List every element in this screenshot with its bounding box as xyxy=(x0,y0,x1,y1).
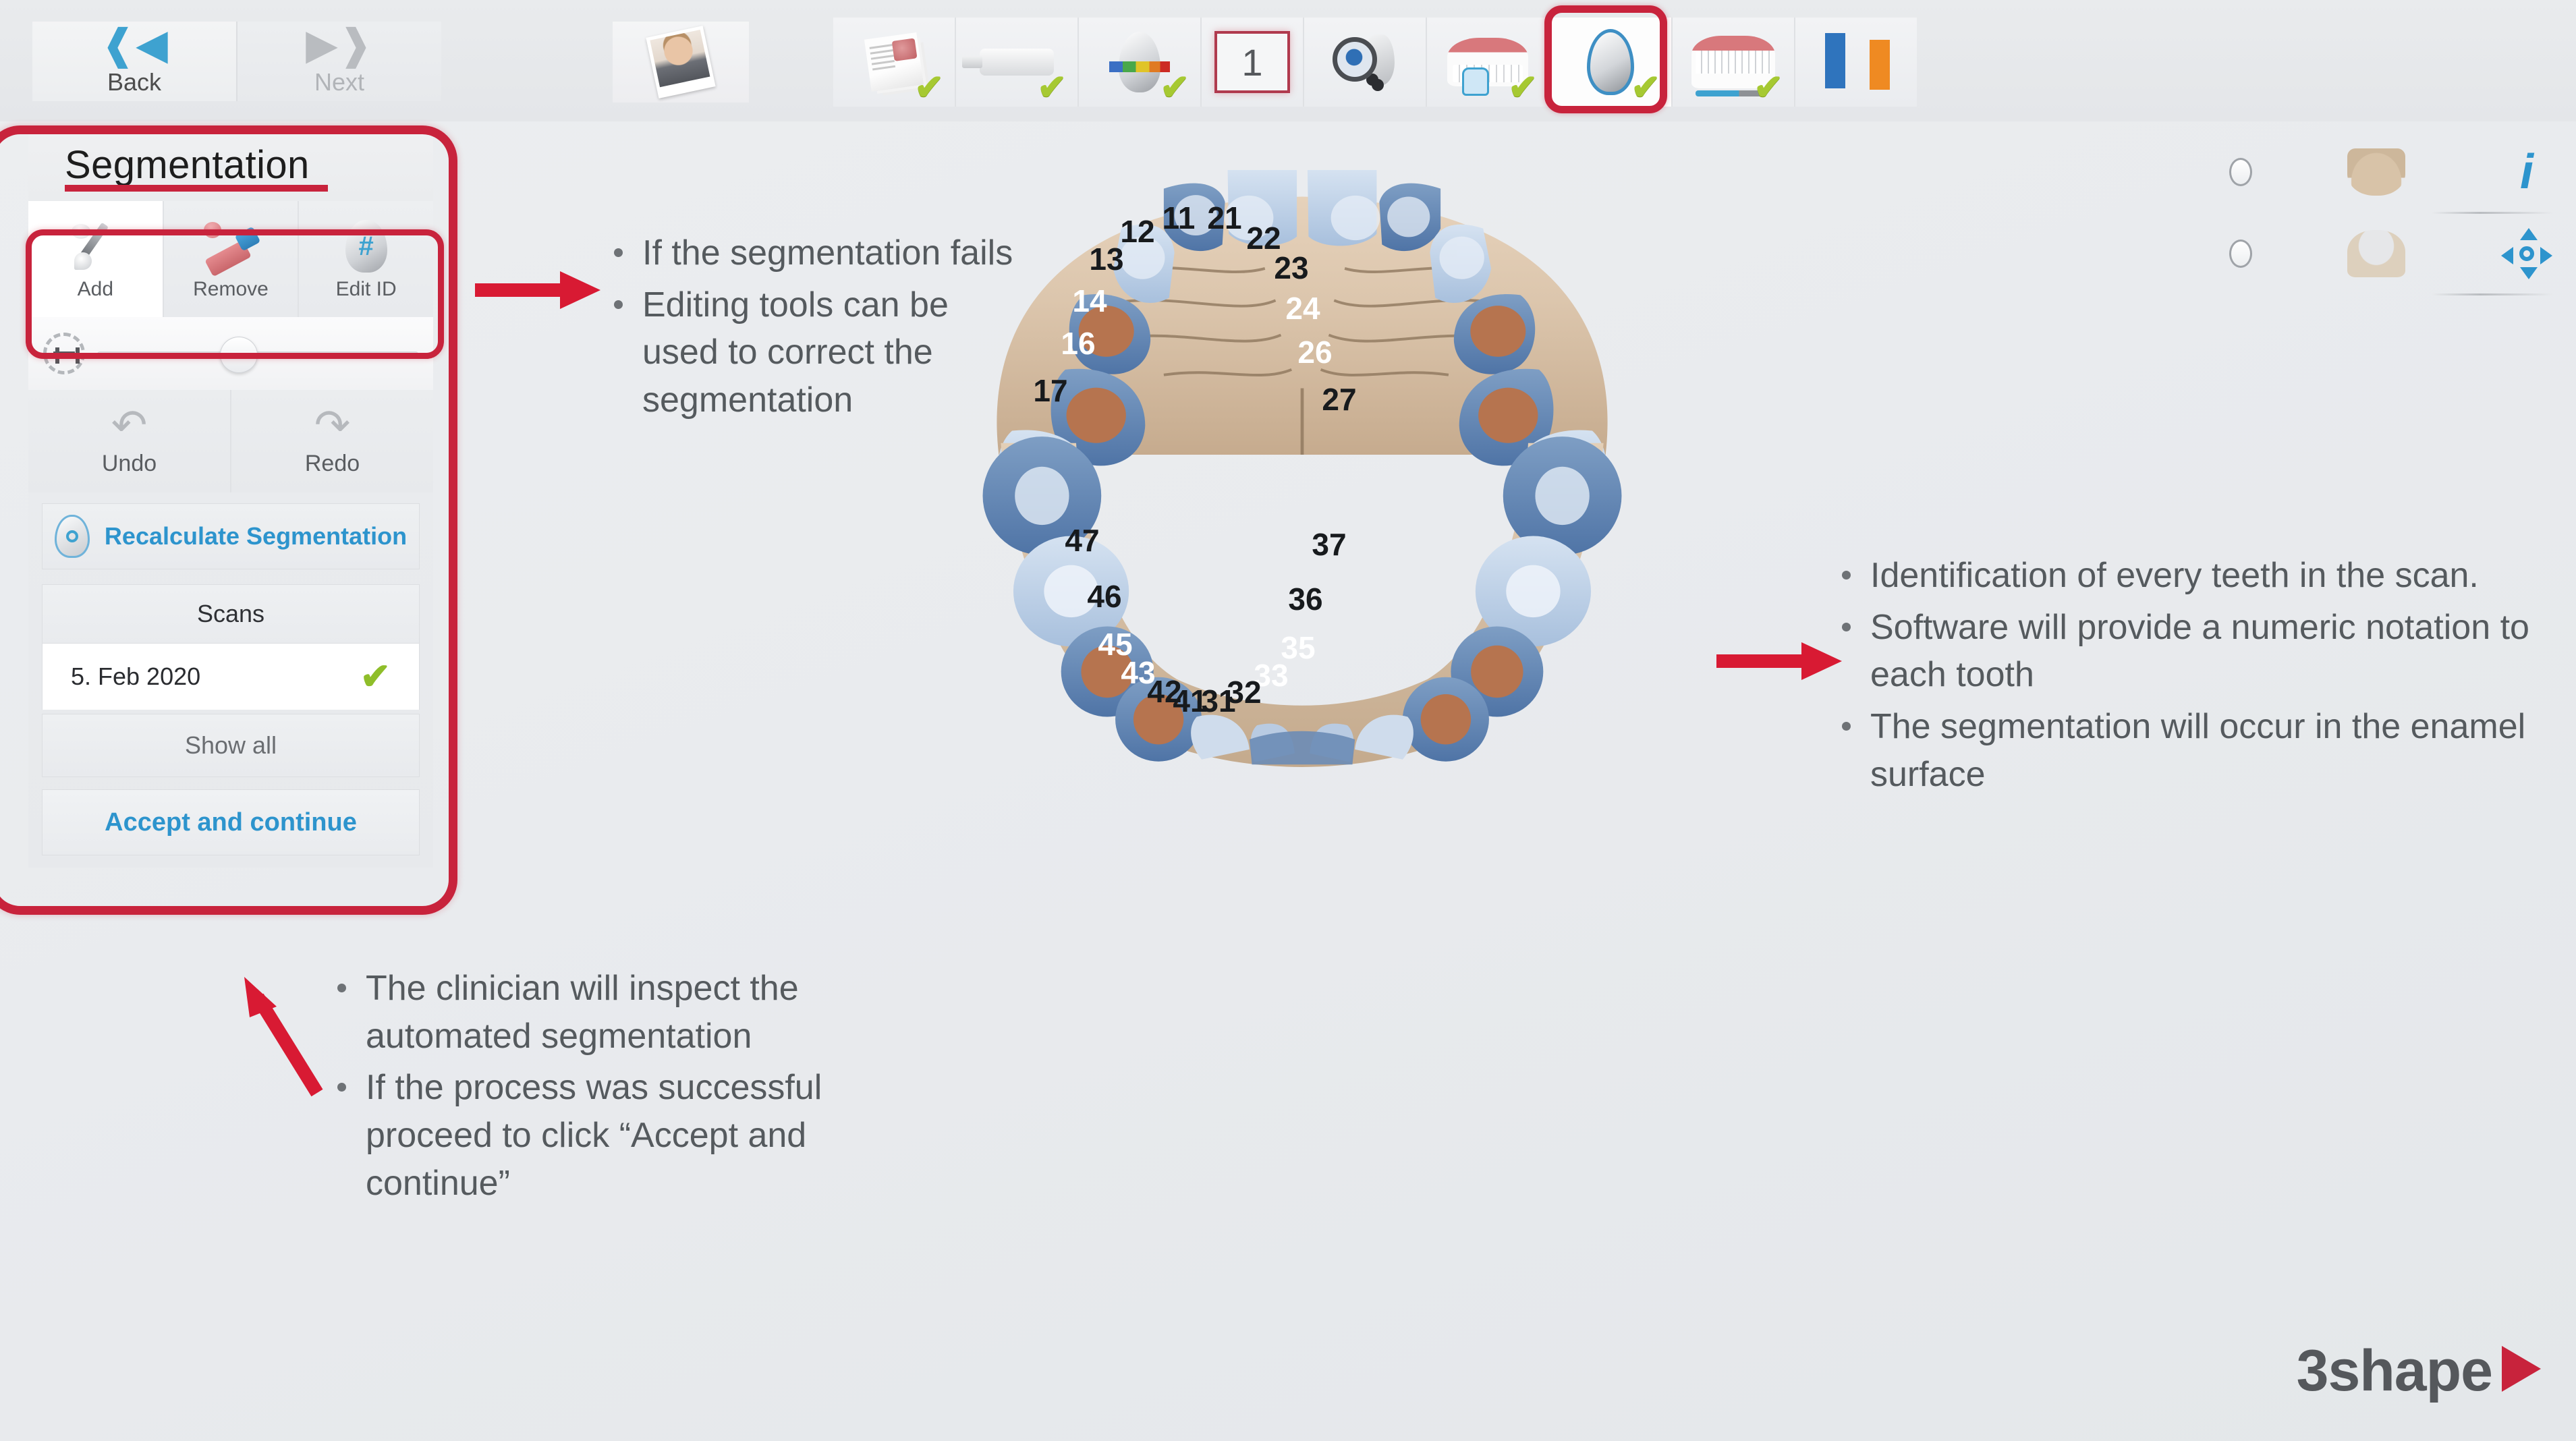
step-order-form[interactable]: ✔ xyxy=(833,18,956,107)
redo-button[interactable]: ↷ Redo xyxy=(231,390,433,492)
tooth-label-46[interactable]: 46 xyxy=(1074,573,1135,620)
patient-face-image xyxy=(650,30,710,87)
segmentation-panel: Segmentation Add Remove # Edit ID xyxy=(28,128,433,868)
scan-list-item[interactable]: 5. Feb 2020 ✔ xyxy=(42,644,420,710)
next-button[interactable]: ▶❱ Next xyxy=(237,22,441,101)
patient-photo-thumbnail xyxy=(646,26,715,98)
arrow-left-icon: ❰◀ xyxy=(101,26,168,64)
divider xyxy=(2432,212,2553,214)
undo-label: Undo xyxy=(102,451,157,477)
brand-triangle-icon xyxy=(2502,1346,2541,1392)
history-row: ↶ Undo ↷ Redo xyxy=(28,390,433,492)
tooth-label-36[interactable]: 36 xyxy=(1275,575,1336,623)
navigation-buttons: ❰◀ Back ▶❱ Next xyxy=(32,22,441,101)
green-check-icon: ✔ xyxy=(360,662,391,691)
show-all-button[interactable]: Show all xyxy=(42,714,420,777)
view-row-lower xyxy=(2229,217,2553,291)
tooth-heatmap-icon xyxy=(1119,32,1160,92)
3d-viewport[interactable]: 1121122213231424162617274737463645354333… xyxy=(445,125,2576,1441)
scans-header: Scans xyxy=(42,584,420,644)
hash-tooth-icon: # xyxy=(345,217,387,275)
tool-add[interactable]: Add xyxy=(28,201,164,317)
step-scanner[interactable]: ✔ xyxy=(956,18,1079,107)
recalculate-segmentation-button[interactable]: Recalculate Segmentation xyxy=(42,503,420,569)
step-check-icon: ✔ xyxy=(1037,74,1067,101)
step-check-icon: ✔ xyxy=(1508,74,1538,101)
brand-logo: 3shape xyxy=(2297,1338,2541,1405)
step-select-teeth[interactable]: ✔ xyxy=(1427,18,1550,107)
step-number-box[interactable]: 1 xyxy=(1202,18,1304,107)
tooth-label-17[interactable]: 17 xyxy=(1020,367,1081,414)
tool-remove[interactable]: Remove xyxy=(164,201,300,317)
brand-logo-text: 3shape xyxy=(2297,1338,2492,1405)
scan-date: 5. Feb 2020 xyxy=(71,662,200,691)
upper-jaw-thumbnail[interactable] xyxy=(2347,148,2405,196)
brush-size-row xyxy=(28,317,433,390)
page-title: Segmentation xyxy=(65,142,310,188)
magnifier-tooth-icon xyxy=(1331,33,1399,91)
step-scan-quality[interactable]: ✔ xyxy=(1079,18,1202,107)
back-button-label: Back xyxy=(107,68,161,96)
step-inspect[interactable] xyxy=(1304,18,1427,107)
tooth-label-37[interactable]: 37 xyxy=(1299,521,1360,568)
title-underline xyxy=(65,185,328,192)
tooth-label-14[interactable]: 14 xyxy=(1059,277,1120,324)
step-simulation[interactable] xyxy=(1795,18,1917,107)
step-check-icon: ✔ xyxy=(1160,74,1189,101)
edit-tools-row: Add Remove # Edit ID xyxy=(28,201,433,317)
brush-size-slider[interactable] xyxy=(97,333,418,374)
tool-add-label: Add xyxy=(78,278,113,301)
view-row-upper: i xyxy=(2229,135,2553,209)
arrow-right-icon: ▶❱ xyxy=(306,26,373,64)
tooth-label-24[interactable]: 24 xyxy=(1272,285,1333,332)
brush-size-icon xyxy=(43,333,85,374)
tooth-label-16[interactable]: 16 xyxy=(1048,320,1109,367)
eraser-icon xyxy=(202,217,259,275)
undo-arrow-icon: ↶ xyxy=(111,406,148,444)
back-button[interactable]: ❰◀ Back xyxy=(32,22,237,101)
redo-arrow-icon: ↷ xyxy=(314,406,351,444)
step-check-icon: ✔ xyxy=(914,74,944,101)
recalculate-tooth-icon xyxy=(55,515,90,558)
application-root: ❰◀ Back ▶❱ Next ✔ ✔ ✔ xyxy=(0,0,2576,1441)
tool-edit-id[interactable]: # Edit ID xyxy=(299,201,433,317)
tooth-label-32[interactable]: 32 xyxy=(1214,669,1275,716)
pan-move-icon[interactable] xyxy=(2500,228,2553,279)
redo-label: Redo xyxy=(305,451,360,477)
tooth-label-26[interactable]: 26 xyxy=(1285,329,1345,376)
step-number-plate: 1 xyxy=(1214,31,1290,93)
divider xyxy=(2432,293,2553,295)
step-alignment[interactable]: ✔ xyxy=(1673,18,1795,107)
undo-button[interactable]: ↶ Undo xyxy=(28,390,231,492)
patient-photo-card[interactable] xyxy=(613,22,749,103)
tooth-label-13[interactable]: 13 xyxy=(1076,235,1137,283)
panel-title-bar: Segmentation xyxy=(28,128,433,201)
info-icon[interactable]: i xyxy=(2500,150,2553,194)
radio-unchecked-icon[interactable] xyxy=(2229,158,2252,186)
paintbrush-icon xyxy=(70,217,120,275)
tool-edit-id-label: Edit ID xyxy=(336,278,397,301)
two-people-icon xyxy=(1821,33,1891,91)
workflow-step-strip: ✔ ✔ ✔ 1 ✔ ✔ xyxy=(833,18,1917,107)
recalculate-label: Recalculate Segmentation xyxy=(105,522,407,550)
view-tools-column: i xyxy=(2229,135,2553,298)
selected-step-highlight xyxy=(1544,5,1667,113)
lower-jaw-thumbnail[interactable] xyxy=(2347,230,2405,277)
radio-unchecked-icon[interactable] xyxy=(2229,239,2252,268)
tool-remove-label: Remove xyxy=(193,278,269,301)
tooth-label-23[interactable]: 23 xyxy=(1261,244,1322,291)
tooth-label-27[interactable]: 27 xyxy=(1309,376,1370,423)
top-bar: ❰◀ Back ▶❱ Next ✔ ✔ ✔ xyxy=(0,0,2576,121)
step-segmentation[interactable]: ✔ xyxy=(1550,18,1673,107)
step-check-icon: ✔ xyxy=(1754,74,1783,101)
accept-and-continue-button[interactable]: Accept and continue xyxy=(42,789,420,855)
slider-thumb[interactable] xyxy=(220,337,258,373)
next-button-label: Next xyxy=(314,68,364,96)
tooth-label-47[interactable]: 47 xyxy=(1052,517,1113,564)
